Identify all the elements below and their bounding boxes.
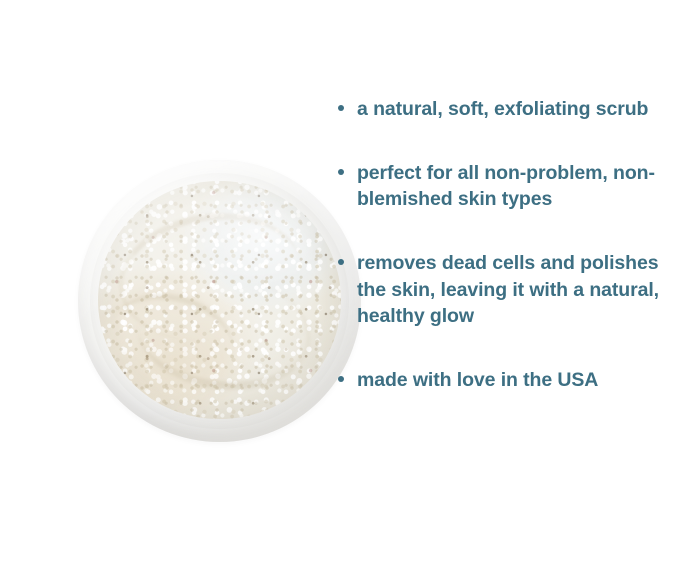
scrub-surface-sheen [98,181,340,420]
bullet-dot-icon [338,259,344,265]
scrub-jar [78,160,361,442]
scrub-product-surface [98,181,340,420]
feature-text: perfect for all non-problem, non-blemish… [357,160,679,212]
bullet-dot-icon [338,105,344,111]
product-image [78,160,361,442]
feature-list-item: perfect for all non-problem, non-blemish… [333,160,679,212]
feature-list: a natural, soft, exfoliating scrub perfe… [333,96,679,393]
feature-list-item: a natural, soft, exfoliating scrub [333,96,679,122]
feature-list-item: removes dead cells and polishes the skin… [333,250,679,328]
feature-list-item: made with love in the USA [333,367,679,393]
bullet-dot-icon [338,376,344,382]
feature-text: made with love in the USA [357,367,679,393]
feature-text: a natural, soft, exfoliating scrub [357,96,679,122]
product-feature-panel: a natural, soft, exfoliating scrub perfe… [0,0,679,580]
feature-text: removes dead cells and polishes the skin… [357,250,679,328]
bullet-dot-icon [338,169,344,175]
